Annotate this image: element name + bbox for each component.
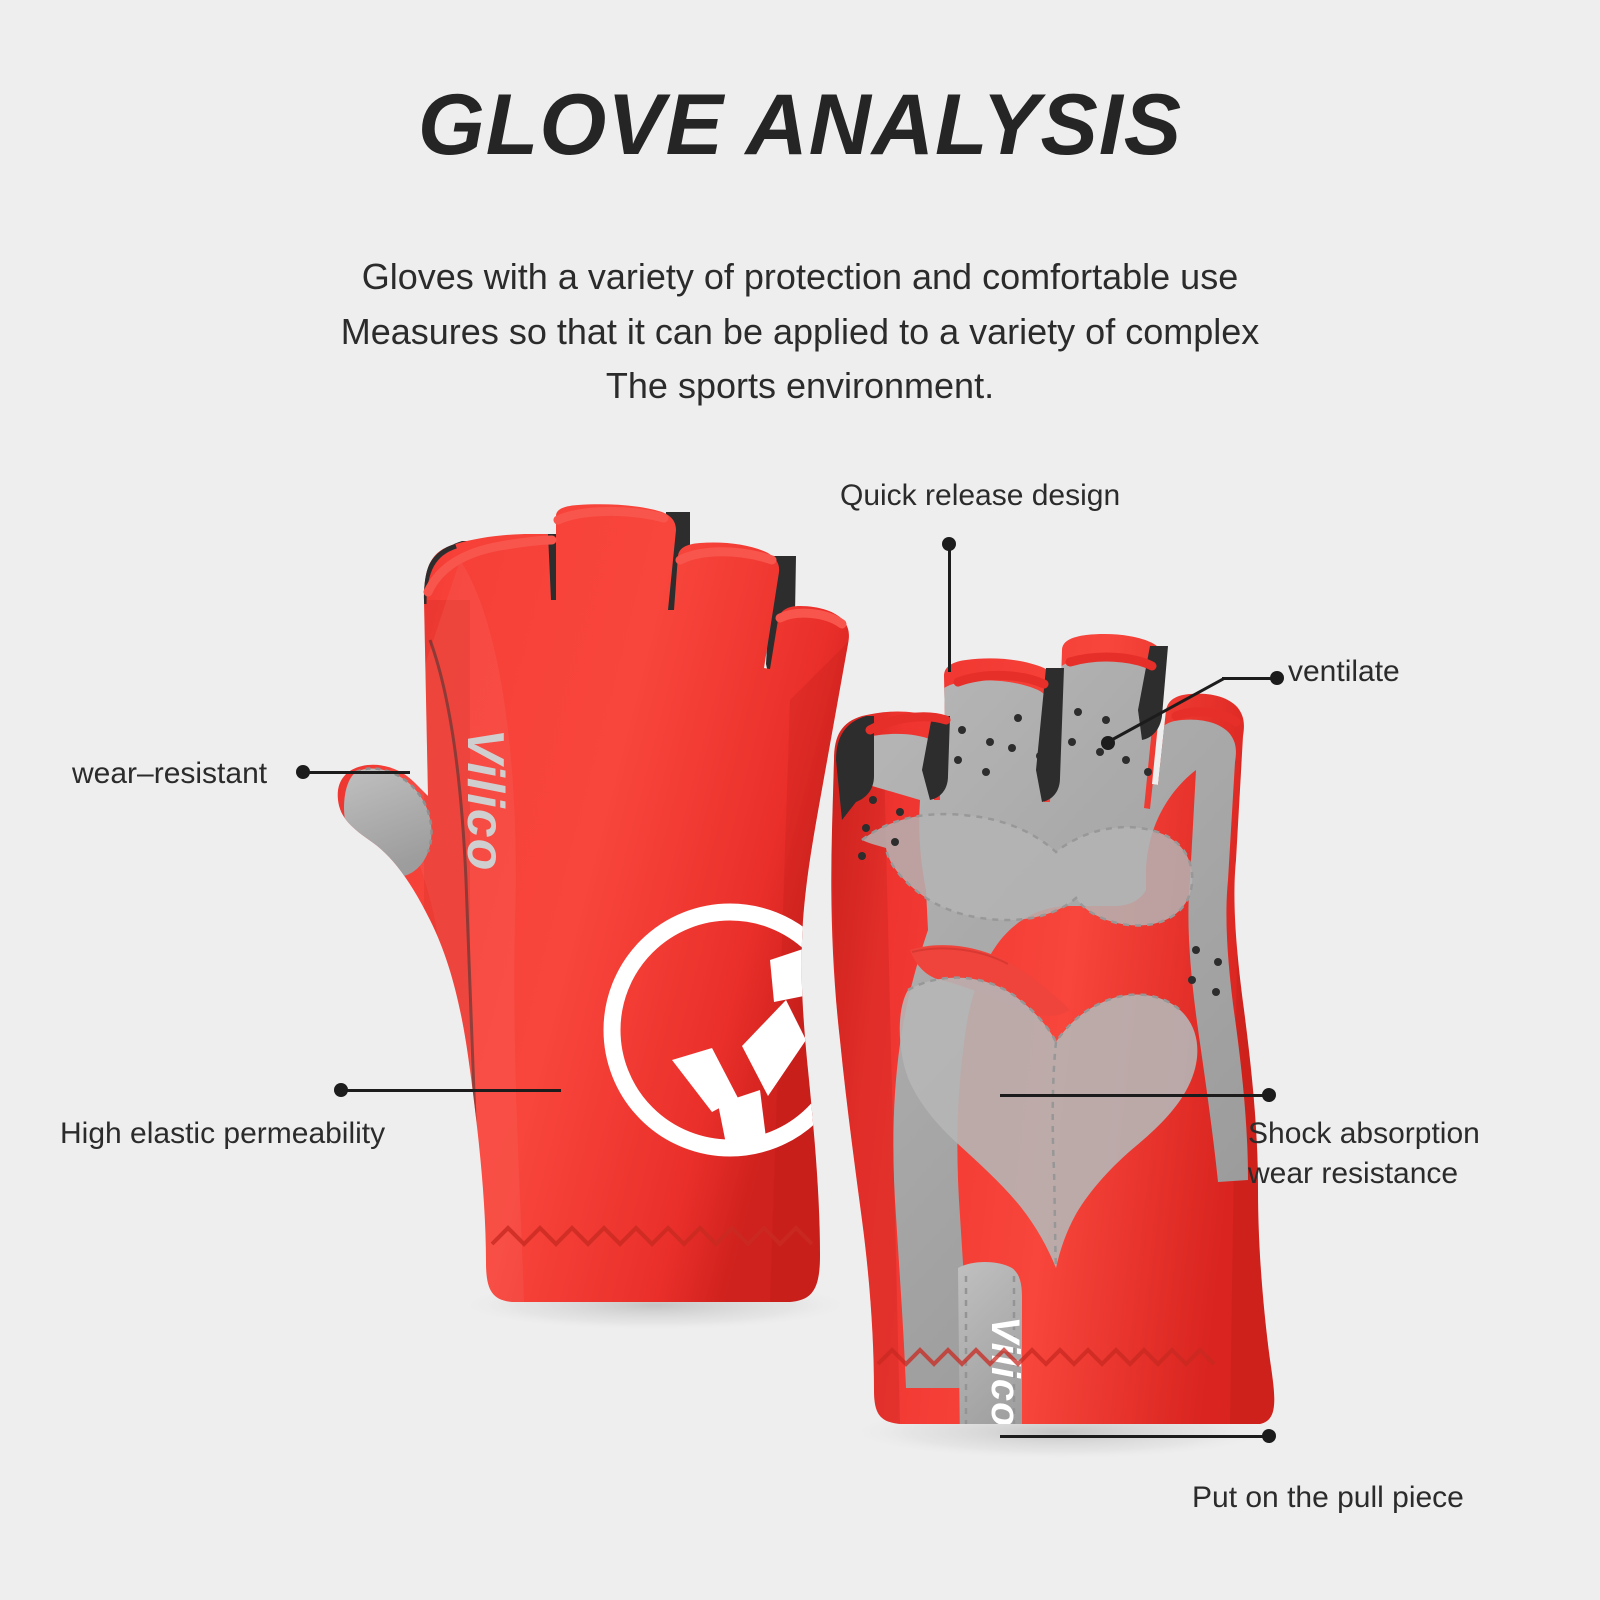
leader-line-ventilate-diagonal	[1106, 677, 1224, 744]
leader-dot-shock-absorption	[1262, 1088, 1276, 1102]
right-glove-shadow	[845, 1404, 1275, 1460]
leader-dot-ventilate	[1270, 671, 1284, 685]
right-glove-pull-tab-brand-text: Vilico	[983, 1316, 1027, 1427]
product-infographic: GLOVE ANALYSIS Gloves with a variety of …	[0, 0, 1600, 1600]
right-glove-ventilation-holes	[858, 708, 1222, 996]
annotation-wear-resistant: wear–resistant	[72, 754, 267, 794]
right-glove-cuff-stitch	[878, 1350, 1214, 1364]
left-glove-logo	[612, 912, 848, 1148]
left-glove-brand-text: Vilico	[456, 729, 514, 872]
right-glove-palm: Vilico	[830, 634, 1280, 1468]
leader-line-put-on-pull-piece	[1000, 1435, 1268, 1438]
subtitle-line-3: The sports environment.	[0, 359, 1600, 414]
leader-line-wear-resistant	[308, 771, 410, 774]
left-glove-finger-trim	[430, 541, 470, 640]
annotation-quick-release-design: Quick release design	[840, 476, 1120, 516]
left-glove-shadow	[455, 1279, 855, 1331]
annotation-ventilate: ventilate	[1288, 652, 1400, 692]
page-subtitle: Gloves with a variety of protection and …	[0, 250, 1600, 414]
leader-line-quick-release	[948, 544, 951, 672]
right-glove-lower-heart-pad	[900, 978, 1198, 1268]
left-glove-cuff-stitch	[492, 1228, 812, 1244]
leader-line-high-elastic-permeability	[346, 1089, 561, 1092]
right-glove-mesh-vent	[910, 945, 1070, 1016]
left-glove-back: Vilico	[338, 504, 850, 1302]
page-title: GLOVE ANALYSIS	[0, 82, 1600, 168]
leader-line-shock-absorption	[1000, 1094, 1268, 1097]
right-glove-palm-suede	[838, 726, 1248, 1380]
subtitle-line-2: Measures so that it can be applied to a …	[0, 305, 1600, 360]
left-glove-body	[338, 504, 849, 1302]
annotation-high-elastic-permeability: High elastic permeability	[60, 1114, 385, 1154]
annotation-shock-absorption-wear-resistance: Shock absorption wear resistance	[1248, 1114, 1568, 1193]
glove-pair-illustration: Vilico	[0, 0, 1600, 1600]
annotation-shock-absorption-line2: wear resistance	[1248, 1154, 1568, 1194]
right-glove-palm-main-grey	[838, 658, 1248, 1388]
right-glove-upper-pad	[862, 814, 1192, 925]
annotation-shock-absorption-line1: Shock absorption	[1248, 1114, 1568, 1154]
left-glove-thumb-wear-patch	[344, 768, 431, 877]
subtitle-line-1: Gloves with a variety of protection and …	[0, 250, 1600, 305]
leader-dot-put-on-pull-piece	[1262, 1429, 1276, 1443]
right-glove-body	[831, 634, 1274, 1424]
annotation-put-on-the-pull-piece: Put on the pull piece	[1192, 1478, 1464, 1518]
